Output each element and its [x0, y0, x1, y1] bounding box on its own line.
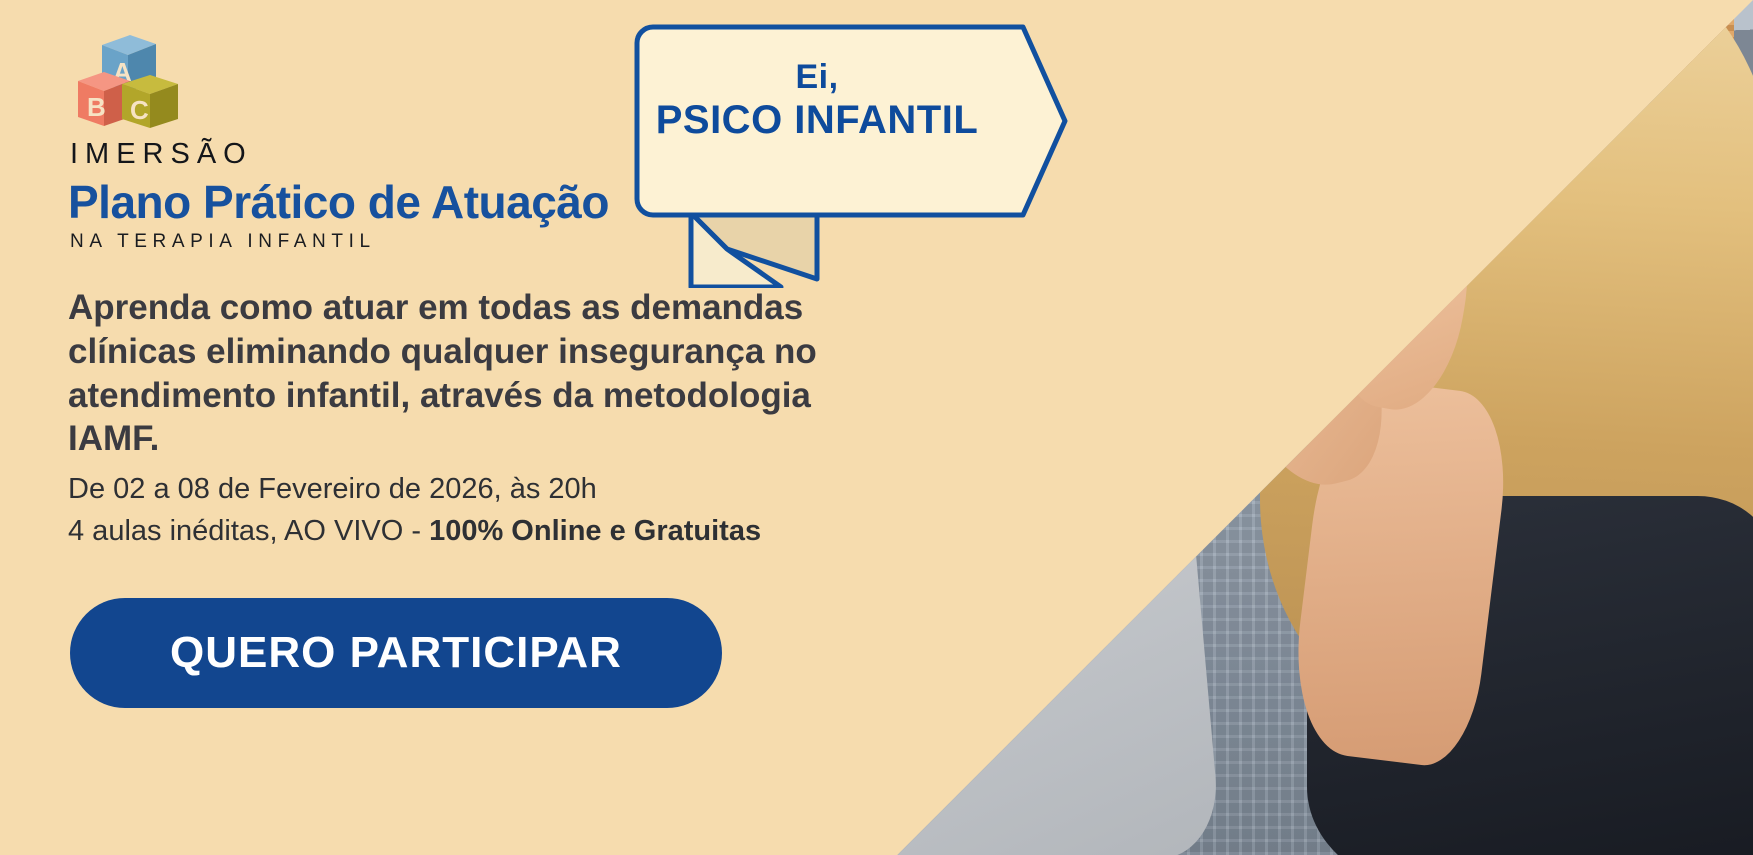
block-b-letter: B — [87, 92, 106, 122]
event-details: De 02 a 08 de Fevereiro de 2026, às 20h … — [68, 468, 928, 553]
cta-button[interactable]: QUERO PARTICIPAR — [70, 598, 722, 708]
kicker-label: IMERSÃO — [70, 138, 253, 171]
content-column: A B C IMERSÃO Plano Prático de Atuação N… — [0, 0, 940, 855]
block-c-letter: C — [130, 95, 149, 125]
subtitle-label: NA TERAPIA INFANTIL — [70, 231, 376, 253]
girl-hair-clip — [1548, 17, 1595, 77]
event-date-line: De 02 a 08 de Fevereiro de 2026, às 20h — [68, 468, 928, 510]
event-format-line: 4 aulas inéditas, AO VIVO - 100% Online … — [68, 510, 928, 552]
lead-paragraph: Aprenda como atuar em todas as demandas … — [68, 286, 828, 461]
abc-blocks-logo: A B C — [72, 31, 184, 128]
page-title: Plano Prático de Atuação — [68, 175, 609, 229]
promo-banner: Ei, PSICO INFANTIL A B C — [0, 0, 1753, 855]
girl-hand-left — [1203, 218, 1400, 501]
event-format-prefix: 4 aulas inéditas, AO VIVO - — [68, 515, 429, 547]
event-format-highlight: 100% Online e Gratuitas — [429, 515, 761, 547]
